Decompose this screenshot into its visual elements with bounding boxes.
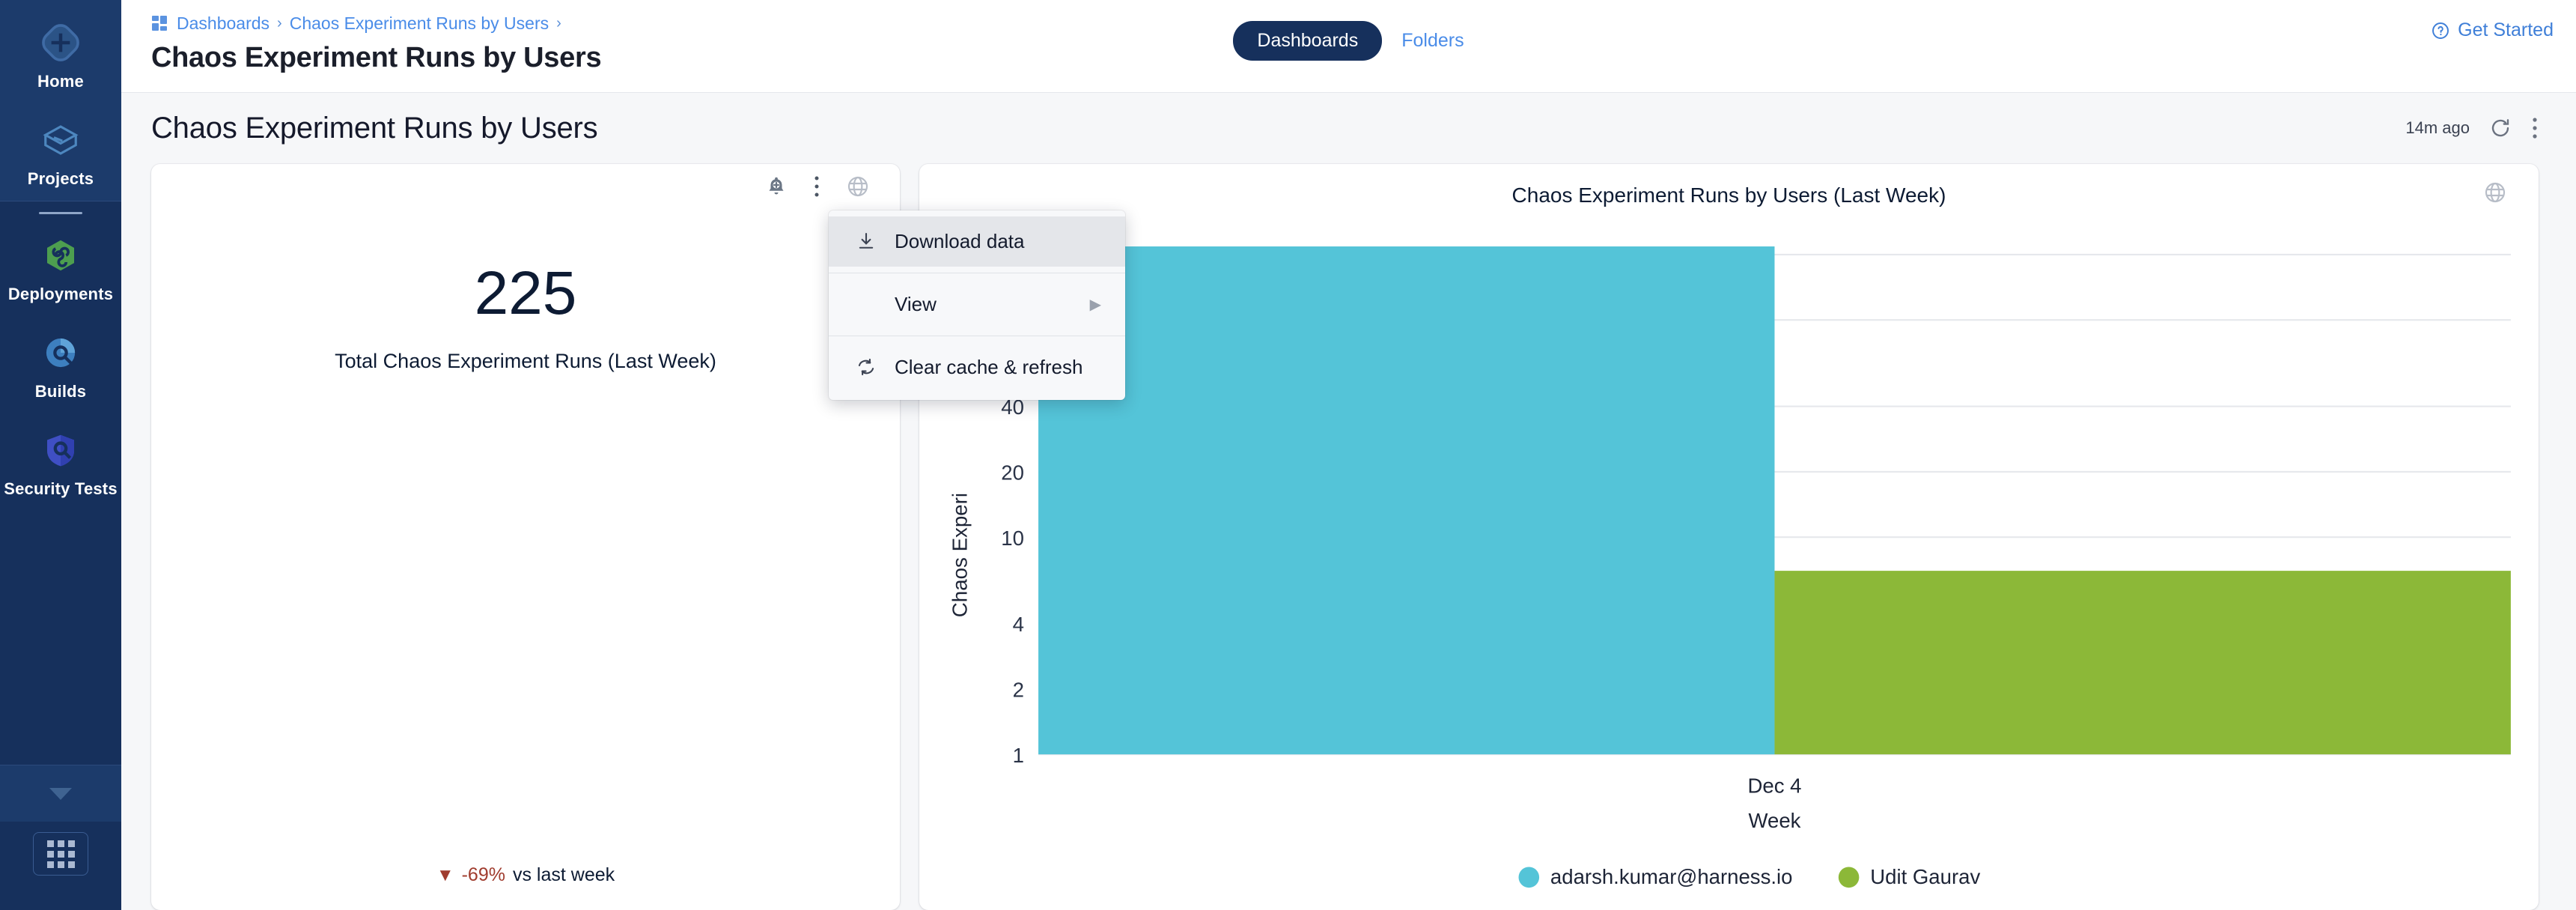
main-region: Dashboards › Chaos Experiment Runs by Us…	[121, 0, 2576, 910]
sidebar-collapse-button[interactable]	[0, 765, 121, 822]
header-right: Get Started	[2431, 0, 2554, 41]
apps-grid-icon	[47, 840, 75, 868]
sidebar-divider	[0, 201, 121, 219]
x-axis-tick-label: Dec 4	[1747, 774, 1801, 797]
apps-launcher-row	[0, 822, 121, 910]
card-context-menu: Download data View ▶	[829, 210, 1125, 400]
breadcrumb-item-dashboards[interactable]: Dashboards	[177, 13, 270, 34]
page-title: Chaos Experiment Runs by Users	[151, 42, 601, 74]
sidebar-bottom	[0, 765, 121, 910]
chart-card: Chaos Experiment Runs by Users (Last Wee…	[919, 164, 2539, 910]
legend-swatch	[1839, 867, 1860, 888]
header-left: Dashboards › Chaos Experiment Runs by Us…	[151, 0, 601, 74]
kpi-body: 225 Total Chaos Experiment Runs (Last We…	[151, 164, 900, 864]
chart-title: Chaos Experiment Runs by Users (Last Wee…	[919, 164, 2539, 207]
sidebar-group-primary: Home Projects	[0, 0, 121, 201]
kpi-card: 225 Total Chaos Experiment Runs (Last We…	[151, 164, 900, 910]
kpi-more-vertical-icon[interactable]	[813, 175, 820, 198]
breadcrumb: Dashboards › Chaos Experiment Runs by Us…	[151, 12, 601, 34]
menu-item-download-data[interactable]: Download data	[829, 216, 1125, 267]
tab-folders[interactable]: Folders	[1401, 30, 1464, 52]
last-refreshed-label: 14m ago	[2405, 118, 2470, 138]
globe-icon[interactable]	[2483, 181, 2507, 204]
y-axis-tick-label: 4	[1013, 613, 1024, 636]
refresh-icon[interactable]	[2489, 117, 2512, 139]
top-header: Dashboards › Chaos Experiment Runs by Us…	[121, 0, 2576, 93]
legend-swatch	[1519, 867, 1540, 888]
sidebar-item-label: Security Tests	[4, 479, 118, 499]
apps-grid-button[interactable]	[33, 832, 88, 876]
get-started-button[interactable]: Get Started	[2431, 19, 2554, 41]
builds-gear-icon	[37, 330, 84, 376]
bar	[1774, 571, 2510, 754]
y-axis-tick-label: 2	[1013, 678, 1024, 701]
chart-card-tools	[2483, 181, 2507, 204]
home-diamond-icon	[37, 19, 84, 66]
kpi-value: 225	[475, 263, 577, 324]
globe-icon[interactable]	[846, 175, 870, 198]
more-vertical-icon[interactable]	[2531, 116, 2539, 140]
get-started-label: Get Started	[2458, 19, 2554, 41]
refresh-cycle-icon	[856, 357, 877, 377]
menu-item-clear-cache-refresh[interactable]: Clear cache & refresh	[829, 342, 1125, 392]
dashboard-title: Chaos Experiment Runs by Users	[151, 112, 597, 145]
dashboards-grid-icon	[151, 14, 169, 32]
y-axis-tick-label: 1	[1013, 744, 1024, 767]
chevron-down-icon	[48, 786, 73, 802]
kpi-label: Total Chaos Experiment Runs (Last Week)	[335, 350, 716, 373]
y-axis-tick-label: 10	[1001, 527, 1024, 550]
sidebar-item-builds[interactable]: Builds	[0, 316, 121, 413]
bar-chart[interactable]: 124102040100200Dec 4WeekChaos Experiadar…	[919, 207, 2539, 910]
menu-item-label: Clear cache & refresh	[895, 356, 1083, 379]
legend-label: Udit Gaurav	[1870, 865, 1980, 888]
menu-separator	[829, 273, 1125, 273]
bar	[1038, 246, 1774, 754]
security-shield-icon	[37, 427, 84, 473]
dashboard-actions: 14m ago	[2405, 116, 2539, 140]
help-circle-icon	[2431, 21, 2450, 40]
sidebar-item-label: Deployments	[8, 285, 113, 304]
chart-plot-area: 124102040100200Dec 4WeekChaos Experiadar…	[919, 207, 2539, 910]
tab-dashboards[interactable]: Dashboards	[1233, 21, 1382, 61]
breadcrumb-separator: ›	[277, 15, 282, 32]
chevron-right-icon: ▶	[1090, 295, 1101, 314]
primary-sidebar: Home Projects	[0, 0, 121, 910]
sidebar-item-deployments[interactable]: Deployments	[0, 219, 121, 316]
breadcrumb-item-current[interactable]: Chaos Experiment Runs by Users	[290, 13, 549, 34]
projects-box-icon	[37, 117, 84, 163]
app-root: Home Projects	[0, 0, 2576, 910]
kpi-trend-down-icon: ▼	[436, 865, 454, 886]
sidebar-item-security-tests[interactable]: Security Tests	[0, 413, 121, 511]
y-axis-tick-label: 20	[1001, 461, 1024, 484]
menu-item-label: View	[895, 293, 937, 316]
kpi-card-tools	[765, 175, 870, 198]
dashboard-toolbar: Chaos Experiment Runs by Users 14m ago	[121, 93, 2576, 164]
dashboard-content: 225 Total Chaos Experiment Runs (Last We…	[121, 164, 2576, 910]
sidebar-item-label: Builds	[35, 382, 86, 401]
y-axis-title: Chaos Experi	[949, 493, 972, 617]
add-alert-bell-icon[interactable]	[765, 175, 788, 198]
menu-item-view[interactable]: View ▶	[829, 279, 1125, 330]
sidebar-item-label: Home	[37, 72, 84, 91]
download-icon	[856, 231, 877, 252]
sidebar-item-label: Projects	[28, 169, 94, 189]
sidebar-item-home[interactable]: Home	[0, 6, 121, 103]
kpi-delta-value: -69%	[462, 864, 505, 886]
legend-label: adarsh.kumar@harness.io	[1550, 865, 1793, 888]
x-axis-label: Week	[1748, 809, 1800, 832]
kpi-footer: ▼ -69% vs last week	[151, 864, 900, 910]
menu-item-label: Download data	[895, 230, 1024, 253]
deployments-infinity-icon	[37, 232, 84, 279]
sidebar-item-projects[interactable]: Projects	[0, 103, 121, 201]
menu-separator	[829, 336, 1125, 336]
breadcrumb-separator-trailing: ›	[556, 15, 561, 32]
kpi-delta-suffix: vs last week	[513, 864, 615, 886]
